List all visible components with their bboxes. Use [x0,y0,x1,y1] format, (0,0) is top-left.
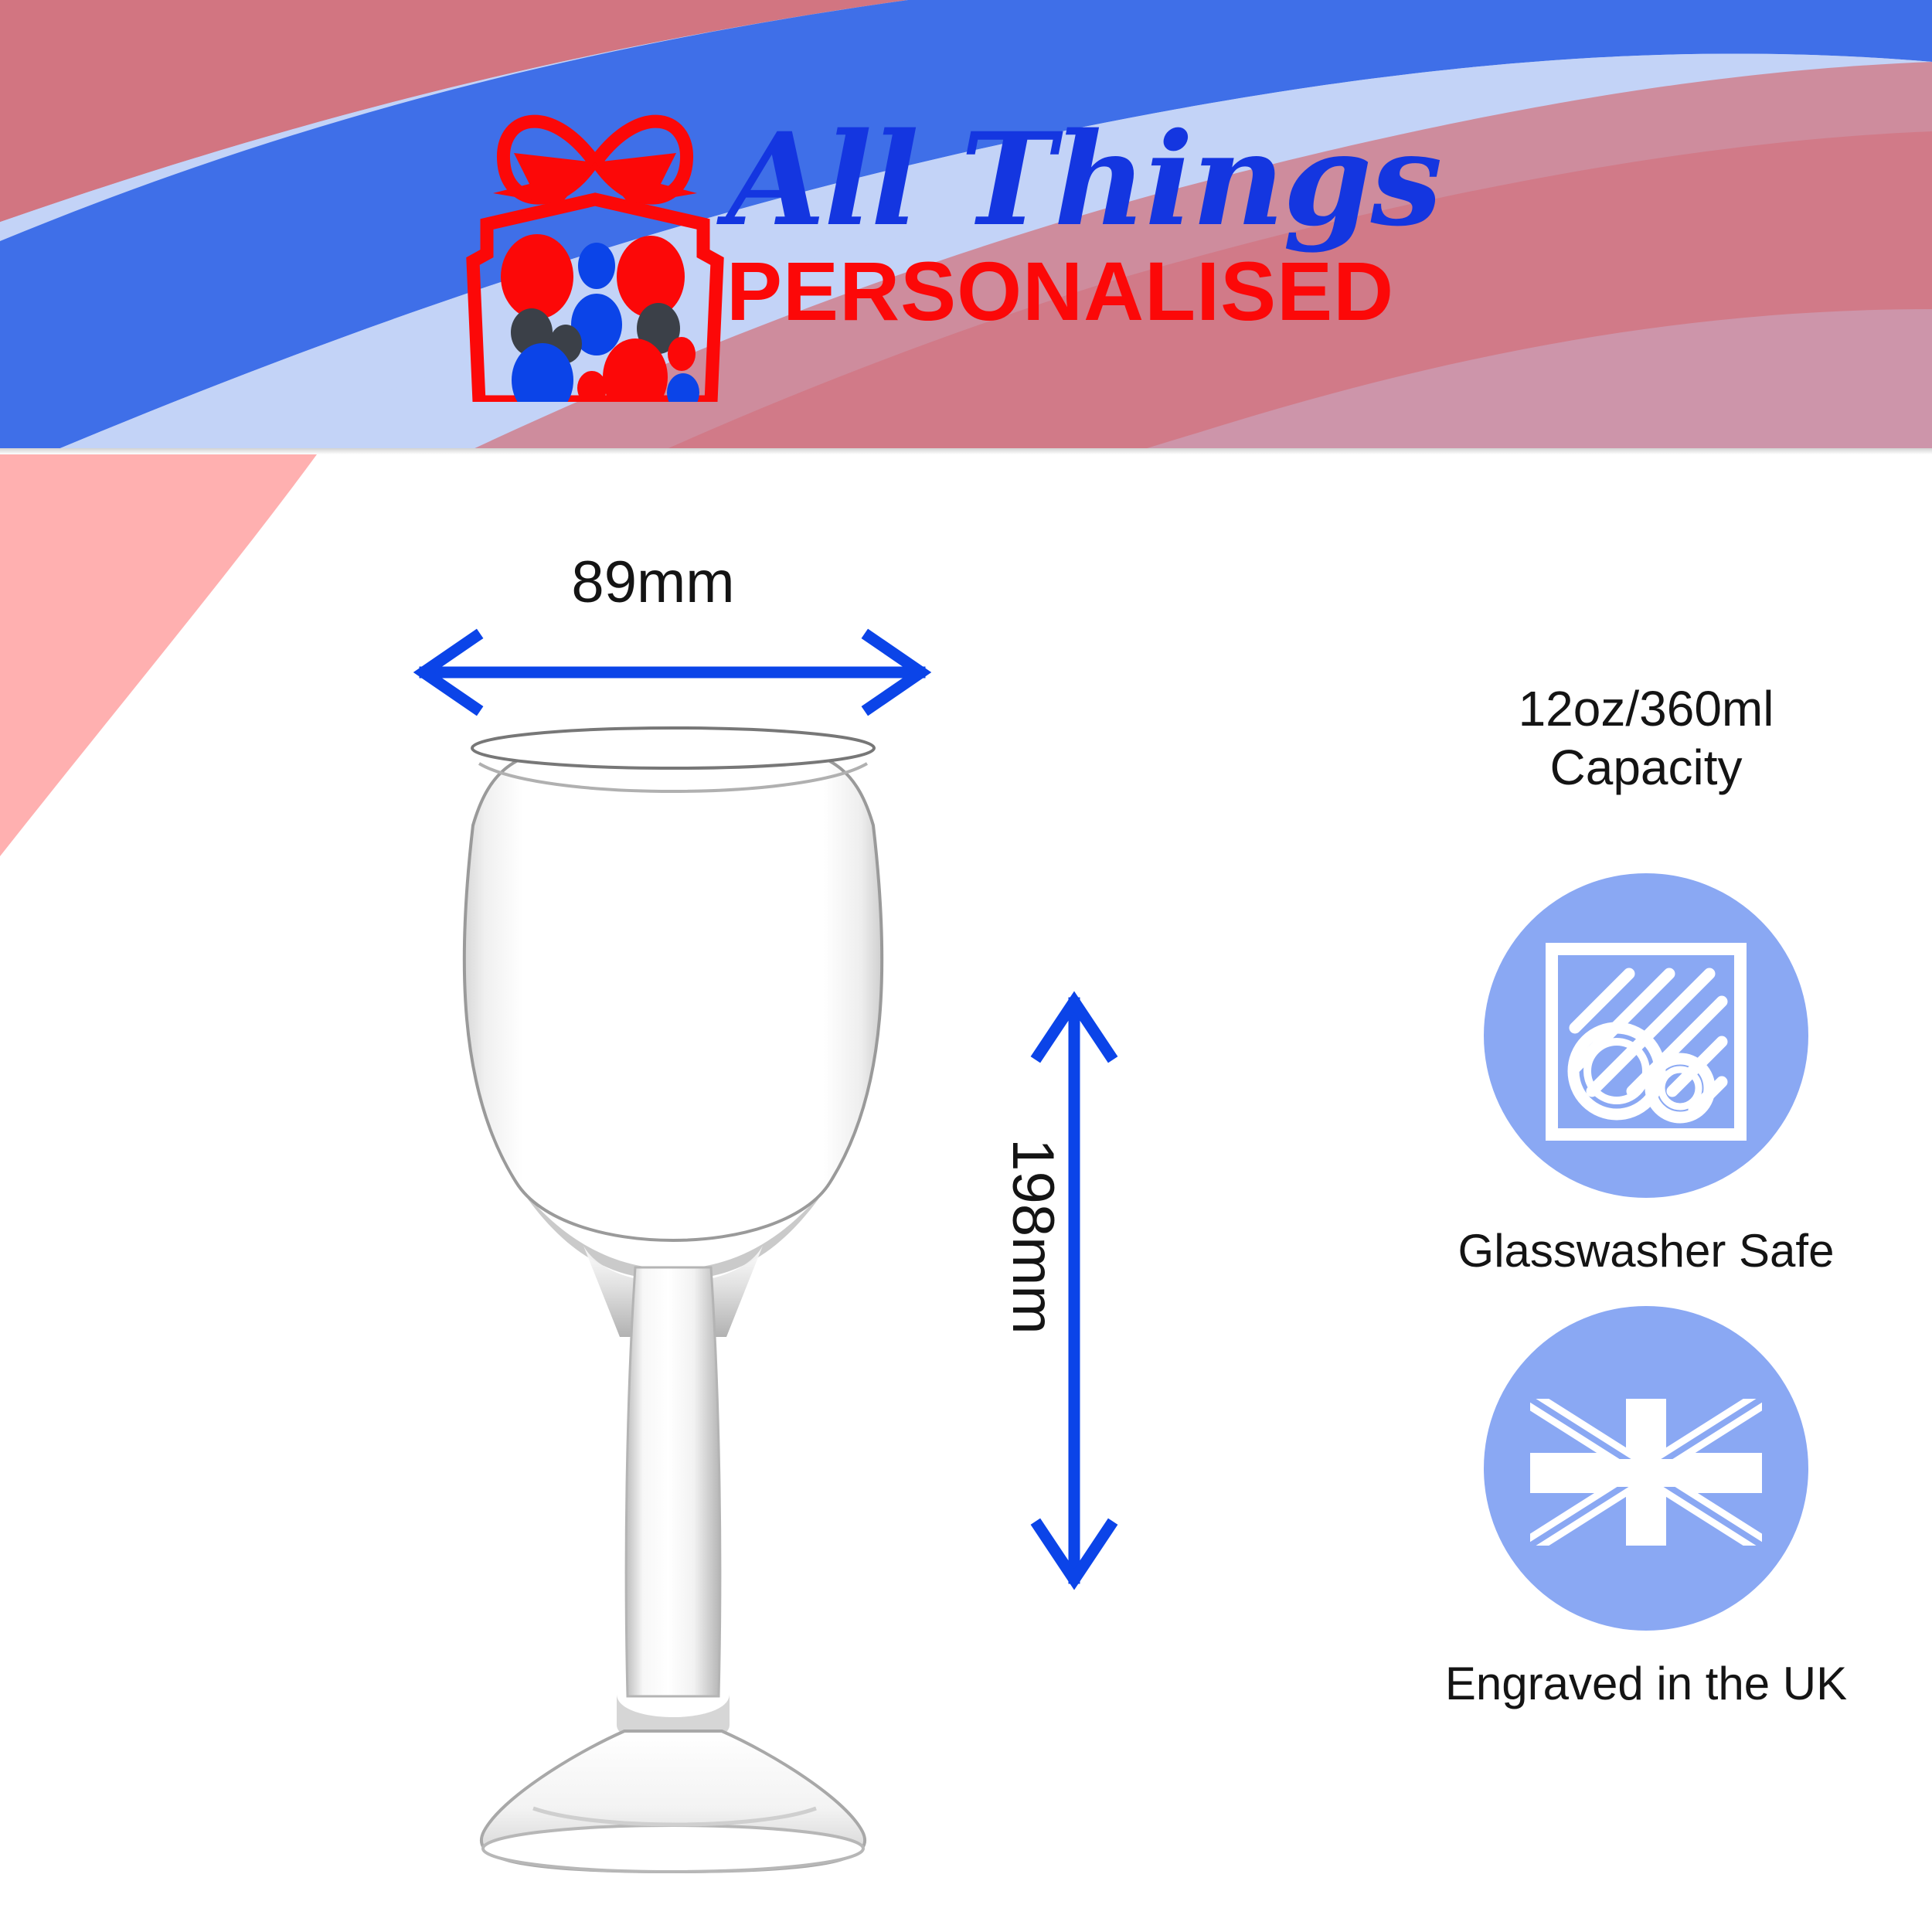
feature-engraved-in-uk: Engraved in the UK [1399,1306,1893,1710]
feature-badge-1 [1484,873,1808,1198]
capacity-text: 12oz/360ml Capacity [1399,680,1893,797]
feature-caption-uk: Engraved in the UK [1399,1657,1893,1710]
width-dimension-label: 89mm [402,549,904,616]
feature-caption-glasswasher: Glasswasher Safe [1399,1224,1893,1277]
dishwasher-icon [1484,873,1808,1198]
brand-wordmark: All Things PERSONALISED [726,116,1360,333]
glass-rim [472,728,874,768]
feature-glasswasher-safe: Glasswasher Safe [1399,873,1893,1277]
header-divider [0,448,1932,454]
brand-script-text: All Things [726,116,1360,243]
union-jack-flag-icon [1484,1306,1808,1631]
feature-badge-2 [1484,1306,1808,1631]
brand-logo: All Things PERSONALISED [433,93,1360,417]
width-dimension-arrow [402,626,943,719]
capacity-line-1: 12oz/360ml [1399,680,1893,739]
height-dimension-label: 198mm [997,1105,1066,1368]
glass-stem [626,1267,720,1696]
capacity-line-2: Capacity [1399,739,1893,798]
gift-box-icon [456,93,734,402]
infographic-canvas: All Things PERSONALISED 89mm [0,0,1932,1932]
brand-subtitle-text: PERSONALISED [726,250,1360,333]
wine-glass-image [417,726,927,1905]
glass-bowl [464,747,883,1240]
header-banner: All Things PERSONALISED [0,0,1932,448]
